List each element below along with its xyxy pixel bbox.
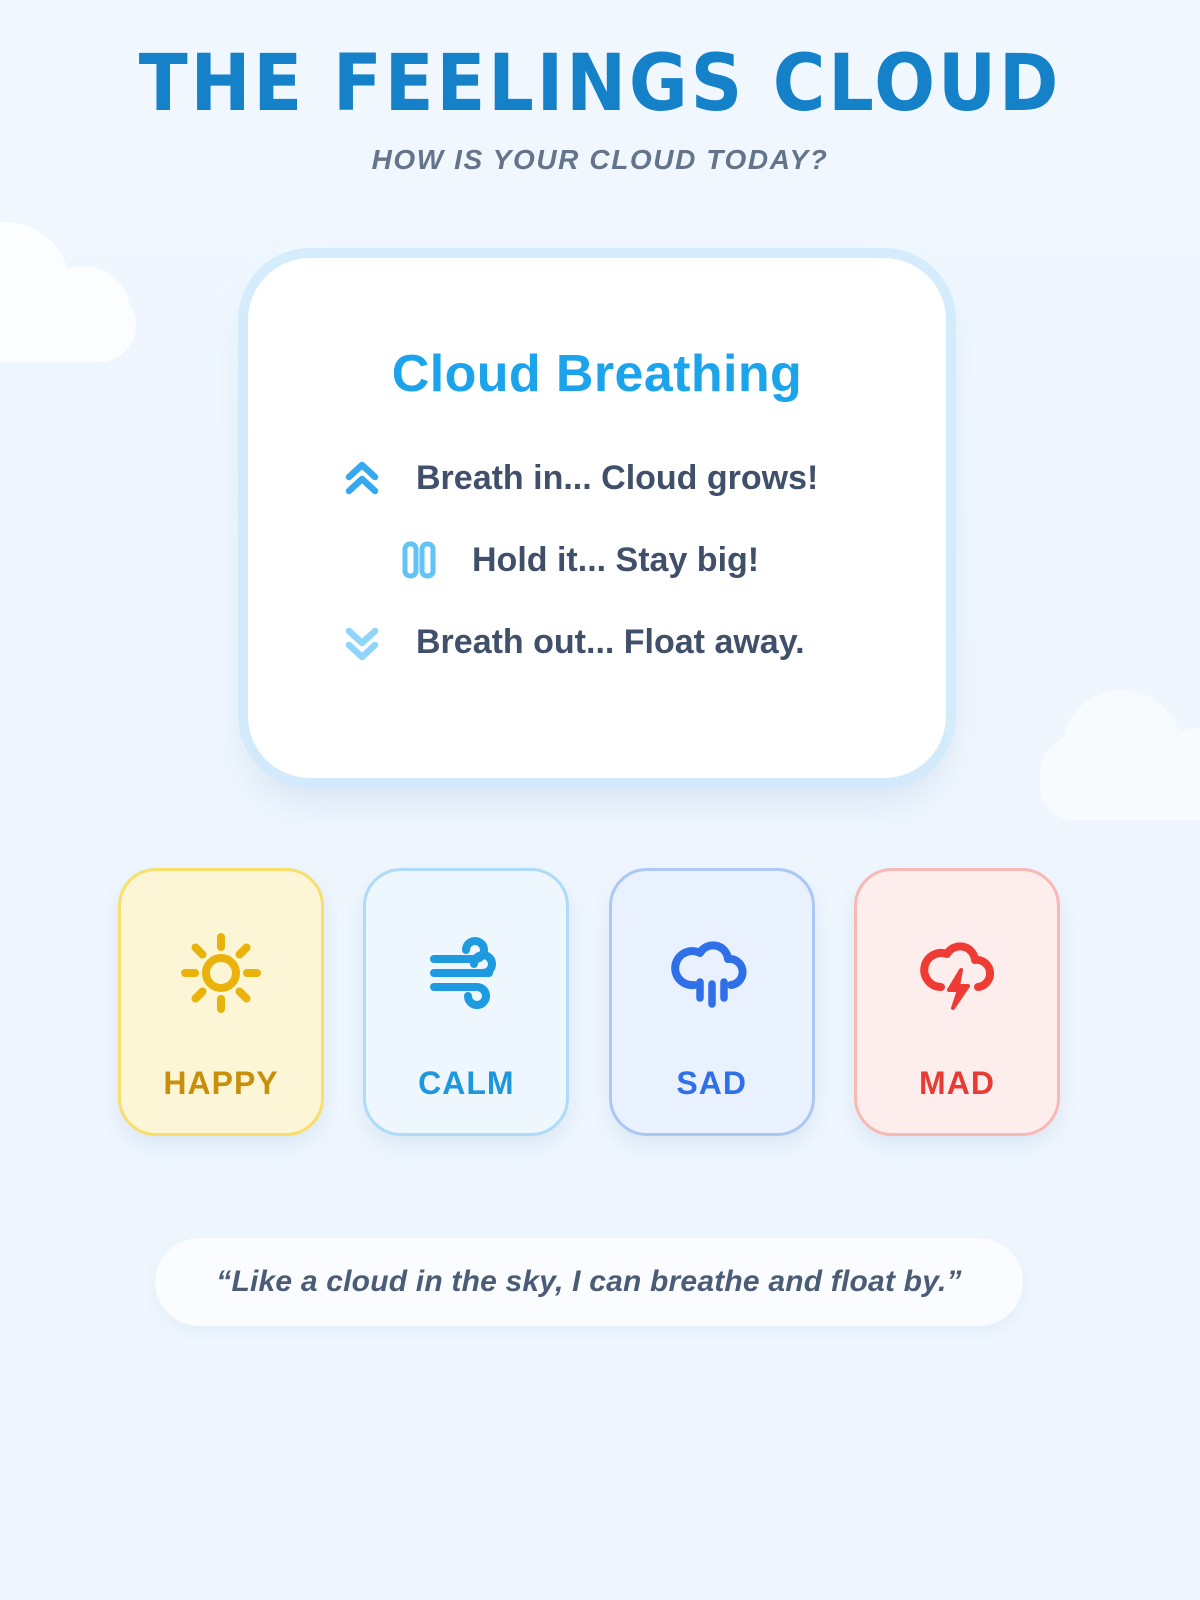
app-root: THE FEELINGS CLOUD HOW IS YOUR CLOUD TOD… <box>0 0 1200 1600</box>
background-cloud-right <box>1040 690 1200 825</box>
mood-label: MAD <box>919 1065 995 1102</box>
mood-button-happy[interactable]: HAPPY <box>118 868 324 1136</box>
mood-button-calm[interactable]: CALM <box>363 868 569 1136</box>
chevron-double-up-icon <box>334 450 390 506</box>
page-subtitle: HOW IS YOUR CLOUD TODAY? <box>0 144 1200 176</box>
pause-icon <box>390 532 446 588</box>
mood-label: CALM <box>418 1065 514 1102</box>
mood-label: HAPPY <box>163 1065 278 1102</box>
mood-button-mad[interactable]: MAD <box>854 868 1060 1136</box>
affirmation-banner: “Like a cloud in the sky, I can breathe … <box>155 1238 1023 1326</box>
cloud-breathing-card: Cloud Breathing Breath in... Cloud grows… <box>248 258 946 778</box>
breathing-step-label: Breath out... Float away. <box>416 623 805 662</box>
breathing-step-exhale: Breath out... Float away. <box>248 614 946 670</box>
app-header: THE FEELINGS CLOUD HOW IS YOUR CLOUD TOD… <box>0 0 1200 176</box>
mood-button-sad[interactable]: SAD <box>609 868 815 1136</box>
breathing-card-title: Cloud Breathing <box>248 258 946 404</box>
sun-icon <box>173 925 269 1021</box>
chevron-double-down-icon <box>334 614 390 670</box>
breathing-steps-list: Breath in... Cloud grows! Hold it... Sta… <box>248 450 946 670</box>
wind-icon <box>418 925 514 1021</box>
breathing-step-label: Breath in... Cloud grows! <box>416 459 818 498</box>
affirmation-text: “Like a cloud in the sky, I can breathe … <box>216 1265 961 1299</box>
background-cloud-left <box>0 222 200 372</box>
breathing-card-surface: Cloud Breathing Breath in... Cloud grows… <box>248 258 946 778</box>
mood-selector: HAPPY CALM <box>118 868 1060 1136</box>
mood-label: SAD <box>676 1065 747 1102</box>
rain-cloud-icon <box>664 925 760 1021</box>
storm-cloud-icon <box>909 925 1005 1021</box>
breathing-step-label: Hold it... Stay big! <box>472 541 759 580</box>
breathing-step-inhale: Breath in... Cloud grows! <box>248 450 946 506</box>
breathing-step-hold: Hold it... Stay big! <box>248 532 946 588</box>
page-title: THE FEELINGS CLOUD <box>48 46 1152 122</box>
